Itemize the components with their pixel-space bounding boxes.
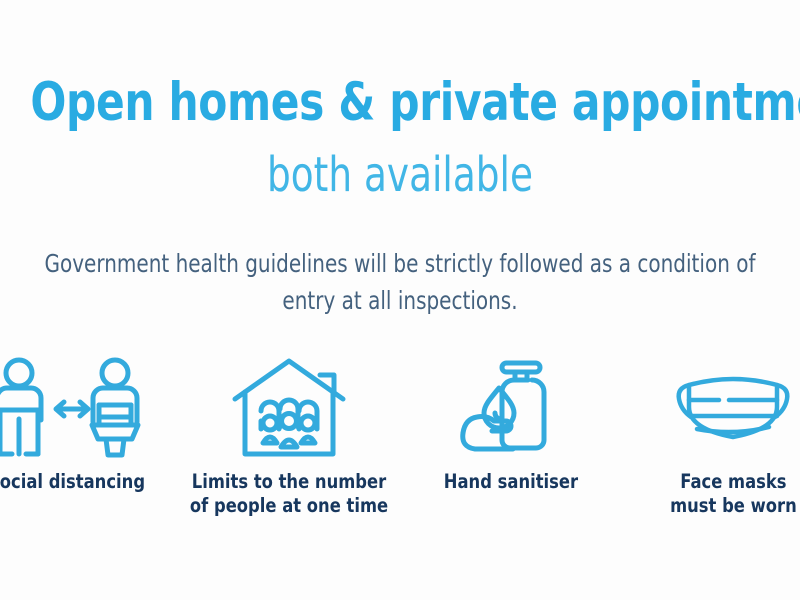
- feature-hand-sanitiser: Hand sanitiser: [400, 352, 622, 494]
- face-mask-icon: [667, 352, 799, 462]
- feature-caption-line-1: Limits to the number: [190, 470, 388, 494]
- body-copy-line-2: entry at all inspections.: [30, 283, 769, 320]
- feature-caption: Face masks must be worn: [670, 470, 797, 518]
- feature-caption-line-1: Face masks: [670, 470, 797, 494]
- page-subtitle: both available: [40, 150, 761, 200]
- body-copy: Government health guidelines will be str…: [30, 246, 769, 319]
- house-occupancy-limit-icon: [230, 352, 348, 462]
- feature-social-distancing: Social distancing: [0, 352, 178, 494]
- feature-caption-line-2: of people at one time: [190, 494, 388, 518]
- feature-caption-line-1: Social distancing: [0, 470, 146, 494]
- feature-caption: Limits to the number of people at one ti…: [190, 470, 388, 518]
- hand-sanitiser-icon: [457, 352, 565, 462]
- feature-row: Social distancing: [0, 352, 800, 518]
- covid-safety-poster: Open homes & private appointments both a…: [0, 0, 800, 600]
- page-title: Open homes & private appointments: [30, 76, 769, 130]
- feature-caption: Social distancing: [0, 470, 146, 494]
- body-copy-line-1: Government health guidelines will be str…: [30, 246, 769, 283]
- feature-face-mask: Face masks must be worn: [622, 352, 800, 518]
- feature-caption: Hand sanitiser: [444, 470, 578, 494]
- social-distancing-icon: [0, 352, 147, 462]
- feature-caption-line-1: Hand sanitiser: [444, 470, 578, 494]
- poster-canvas: Open homes & private appointments both a…: [0, 0, 800, 600]
- feature-occupancy-limit: Limits to the number of people at one ti…: [178, 352, 400, 518]
- feature-caption-line-2: must be worn: [670, 494, 797, 518]
